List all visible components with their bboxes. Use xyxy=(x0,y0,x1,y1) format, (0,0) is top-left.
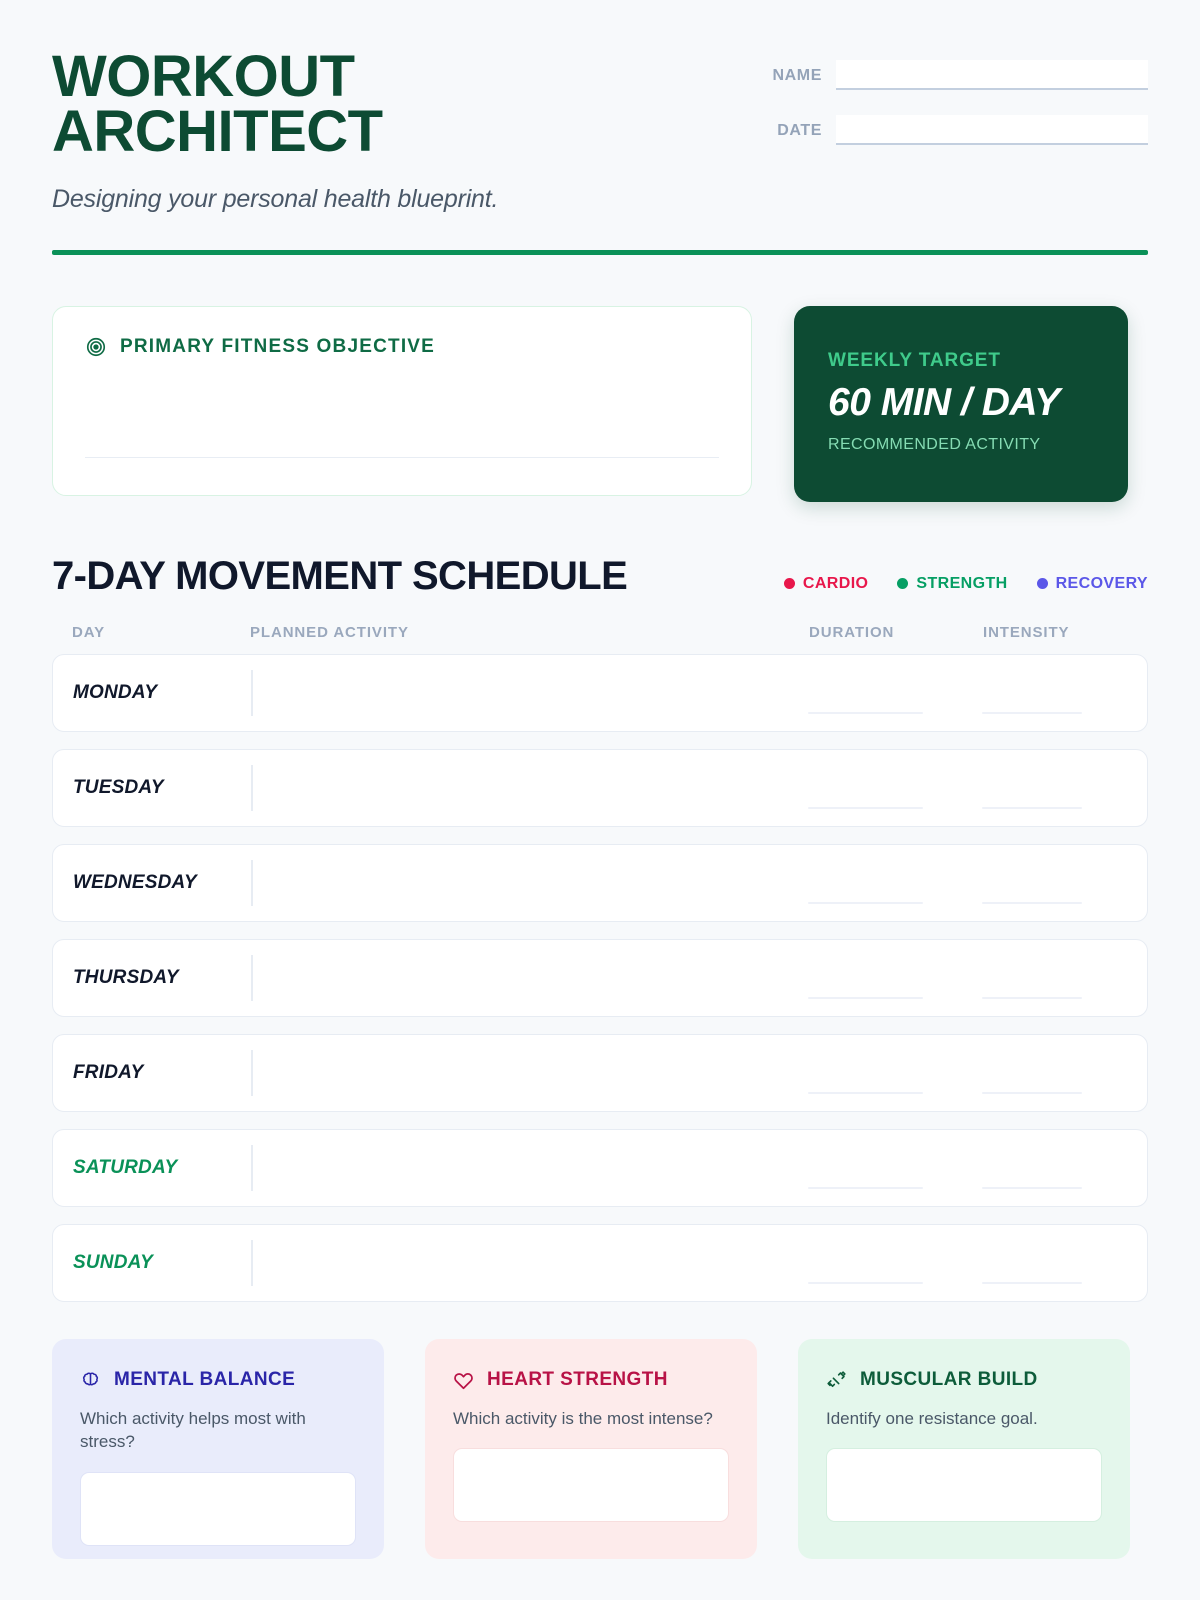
recovery-dot-icon xyxy=(1037,578,1048,589)
meta-fields: NAME DATE xyxy=(748,50,1148,170)
title-block: WORKOUT ARCHITECT Designing your persona… xyxy=(52,50,672,214)
legend-item-strength: STRENGTH xyxy=(897,575,1007,593)
duration-input[interactable] xyxy=(808,765,982,811)
duration-input[interactable] xyxy=(808,1050,982,1096)
table-row[interactable]: MONDAY xyxy=(52,654,1148,732)
mental-balance-title: MENTAL BALANCE xyxy=(114,1369,295,1391)
cardio-dot-icon xyxy=(784,578,795,589)
weekly-target-value: 60 MIN / DAY xyxy=(828,381,1128,425)
intensity-write-line xyxy=(982,807,1082,809)
row-divider xyxy=(251,670,253,716)
muscular-build-header: MUSCULAR BUILD xyxy=(826,1369,1102,1391)
weekly-target-note: RECOMMENDED ACTIVITY xyxy=(828,436,1128,454)
mental-balance-question: Which activity helps most with stress? xyxy=(80,1407,356,1454)
duration-write-line xyxy=(808,712,923,714)
date-input[interactable] xyxy=(836,115,1148,145)
strength-dot-icon xyxy=(897,578,908,589)
row-divider xyxy=(251,860,253,906)
intensity-input[interactable] xyxy=(982,1240,1127,1286)
intensity-input[interactable] xyxy=(982,1145,1127,1191)
schedule-title: 7-DAY MOVEMENT SCHEDULE xyxy=(52,554,627,599)
objective-title: PRIMARY FITNESS OBJECTIVE xyxy=(120,336,435,358)
row-divider xyxy=(251,1240,253,1286)
intensity-write-line xyxy=(982,1092,1082,1094)
column-header-activity: PLANNED ACTIVITY xyxy=(250,624,809,641)
dumbbell-icon xyxy=(826,1370,847,1391)
row-day-label: SATURDAY xyxy=(73,1157,251,1179)
muscular-build-title: MUSCULAR BUILD xyxy=(860,1369,1038,1391)
row-day-label: SUNDAY xyxy=(73,1252,251,1274)
weekly-target-label: WEEKLY TARGET xyxy=(828,350,1128,372)
footer-card-row: MENTAL BALANCE Which activity helps most… xyxy=(52,1339,1148,1559)
objective-write-line xyxy=(85,457,719,459)
row-divider xyxy=(251,1050,253,1096)
target-icon xyxy=(85,336,107,358)
date-label: DATE xyxy=(777,122,822,145)
mental-balance-card: MENTAL BALANCE Which activity helps most… xyxy=(52,1339,384,1559)
table-row[interactable]: THURSDAY xyxy=(52,939,1148,1017)
row-divider xyxy=(251,765,253,811)
duration-write-line xyxy=(808,807,923,809)
duration-input[interactable] xyxy=(808,860,982,906)
worksheet-page: WORKOUT ARCHITECT Designing your persona… xyxy=(0,0,1200,1600)
muscular-build-question: Identify one resistance goal. xyxy=(826,1407,1102,1430)
name-label: NAME xyxy=(772,67,822,90)
heart-strength-header: HEART STRENGTH xyxy=(453,1369,729,1391)
table-row[interactable]: TUESDAY xyxy=(52,749,1148,827)
muscular-build-card: MUSCULAR BUILD Identify one resistance g… xyxy=(798,1339,1130,1559)
page-title: WORKOUT ARCHITECT xyxy=(52,50,672,159)
activity-input[interactable] xyxy=(271,1145,809,1191)
row-day-label: FRIDAY xyxy=(73,1062,251,1084)
table-row[interactable]: SATURDAY xyxy=(52,1129,1148,1207)
objective-target-row: PRIMARY FITNESS OBJECTIVE WEEKLY TARGET … xyxy=(52,306,1148,502)
objective-header: PRIMARY FITNESS OBJECTIVE xyxy=(85,336,719,358)
intensity-input[interactable] xyxy=(982,1050,1127,1096)
intensity-write-line xyxy=(982,1282,1082,1284)
schedule-legend: CARDIO STRENGTH RECOVERY xyxy=(784,575,1148,597)
duration-input[interactable] xyxy=(808,955,982,1001)
table-row[interactable]: WEDNESDAY xyxy=(52,844,1148,922)
row-day-label: WEDNESDAY xyxy=(73,872,251,894)
intensity-write-line xyxy=(982,902,1082,904)
page-subtitle: Designing your personal health blueprint… xyxy=(52,185,672,214)
heart-strength-question: Which activity is the most intense? xyxy=(453,1407,729,1430)
weekly-target-card: WEEKLY TARGET 60 MIN / DAY RECOMMENDED A… xyxy=(794,306,1128,502)
duration-input[interactable] xyxy=(808,1145,982,1191)
row-day-label: MONDAY xyxy=(73,682,251,704)
schedule-header: 7-DAY MOVEMENT SCHEDULE CARDIO STRENGTH … xyxy=(52,554,1148,599)
header-divider xyxy=(52,250,1148,255)
legend-label-strength: STRENGTH xyxy=(916,575,1007,593)
row-divider xyxy=(251,1145,253,1191)
name-field-row: NAME xyxy=(748,60,1148,90)
activity-input[interactable] xyxy=(271,860,809,906)
legend-item-recovery: RECOVERY xyxy=(1037,575,1148,593)
column-header-day: DAY xyxy=(72,624,250,641)
duration-input[interactable] xyxy=(808,1240,982,1286)
activity-input[interactable] xyxy=(271,1240,809,1286)
duration-write-line xyxy=(808,1187,923,1189)
row-day-label: TUESDAY xyxy=(73,777,251,799)
legend-label-cardio: CARDIO xyxy=(803,575,869,593)
brain-icon xyxy=(80,1370,101,1391)
column-header-intensity: INTENSITY xyxy=(983,624,1128,641)
intensity-input[interactable] xyxy=(982,765,1127,811)
activity-input[interactable] xyxy=(271,765,809,811)
table-row[interactable]: FRIDAY xyxy=(52,1034,1148,1112)
activity-input[interactable] xyxy=(271,670,809,716)
row-divider xyxy=(251,955,253,1001)
schedule-rows: MONDAY TUESDAY WEDNESDAY THURSDAY xyxy=(52,654,1148,1302)
mental-balance-header: MENTAL BALANCE xyxy=(80,1369,356,1391)
duration-write-line xyxy=(808,902,923,904)
column-header-duration: DURATION xyxy=(809,624,983,641)
legend-item-cardio: CARDIO xyxy=(784,575,869,593)
mental-balance-input[interactable] xyxy=(80,1472,356,1546)
duration-input[interactable] xyxy=(808,670,982,716)
muscular-build-input[interactable] xyxy=(826,1448,1102,1522)
duration-write-line xyxy=(808,997,923,999)
page-header: WORKOUT ARCHITECT Designing your persona… xyxy=(52,0,1148,214)
heart-icon xyxy=(453,1370,474,1391)
name-input[interactable] xyxy=(836,60,1148,90)
duration-write-line xyxy=(808,1092,923,1094)
activity-input[interactable] xyxy=(271,955,809,1001)
intensity-write-line xyxy=(982,997,1082,999)
heart-strength-card: HEART STRENGTH Which activity is the mos… xyxy=(425,1339,757,1559)
primary-objective-card[interactable]: PRIMARY FITNESS OBJECTIVE xyxy=(52,306,752,496)
schedule-column-headers: DAY PLANNED ACTIVITY DURATION INTENSITY xyxy=(52,624,1148,641)
intensity-write-line xyxy=(982,712,1082,714)
intensity-input[interactable] xyxy=(982,860,1127,906)
heart-strength-input[interactable] xyxy=(453,1448,729,1522)
heart-strength-title: HEART STRENGTH xyxy=(487,1369,668,1391)
duration-write-line xyxy=(808,1282,923,1284)
page-title-line2: ARCHITECT xyxy=(52,105,672,160)
table-row[interactable]: SUNDAY xyxy=(52,1224,1148,1302)
intensity-write-line xyxy=(982,1187,1082,1189)
intensity-input[interactable] xyxy=(982,670,1127,716)
row-day-label: THURSDAY xyxy=(73,967,251,989)
legend-label-recovery: RECOVERY xyxy=(1056,575,1148,593)
date-field-row: DATE xyxy=(748,115,1148,145)
intensity-input[interactable] xyxy=(982,955,1127,1001)
activity-input[interactable] xyxy=(271,1050,809,1096)
